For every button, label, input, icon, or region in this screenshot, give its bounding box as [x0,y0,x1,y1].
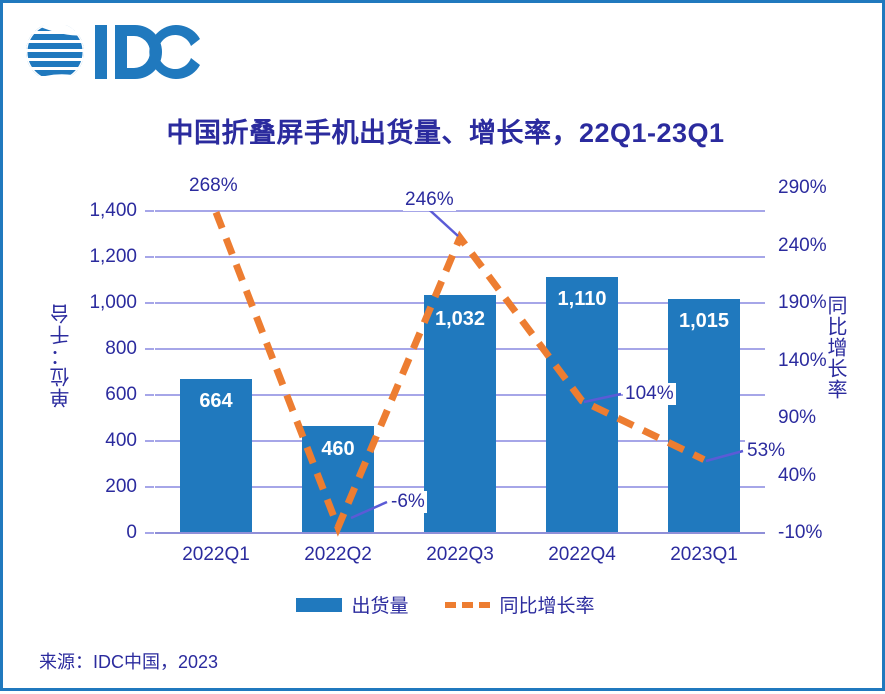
y-tick-left-1200: 1,200 [75,246,137,268]
x-tick-2022Q3: 2022Q3 [399,544,521,566]
leader-line-53 [706,451,743,461]
y-tick-left-1000: 1,000 [75,292,137,314]
tickmark-left-1400 [145,210,154,212]
legend-bar-swatch-icon [296,598,342,612]
growth-label-2023Q1: 53% [745,440,787,462]
y-axis-right-title: 同比增长率 [821,295,850,400]
legend-label-growth-rate: 同比增长率 [500,591,595,618]
growth-label-2022Q4: 104% [623,383,676,405]
y-tick-left-200: 200 [75,476,137,498]
chart-legend: 出货量 同比增长率 [3,591,885,618]
y-tick-right-240: 240% [778,235,848,257]
tickmark-left-1200 [145,256,154,258]
growth-label-2022Q3: 246% [403,189,456,211]
y-tick-right-40: 40% [778,465,848,487]
legend-dashed-line-swatch-icon [445,602,491,608]
leader-line-104 [584,394,621,402]
plot-area: 664 460 1,032 1,110 1,015 268% -6% 246% … [155,210,765,532]
y-tick-right-90: 90% [778,407,848,429]
y-tick-right-290: 290% [778,177,848,199]
tickmark-left-800 [145,348,154,350]
tickmark-left-400 [145,440,154,442]
chart-figure: 中国折叠屏手机出货量、增长率，22Q1-23Q1 1,400 1,200 1,0… [0,0,885,691]
x-tick-2022Q1: 2022Q1 [155,544,277,566]
legend-label-shipments: 出货量 [351,591,408,618]
tickmark-left-600 [145,394,154,396]
tickmark-left-1000 [145,302,154,304]
growth-rate-line [155,210,765,532]
y-tick-left-1400: 1,400 [75,200,137,222]
y-tick-left-800: 800 [75,338,137,360]
legend-item-growth-rate[interactable]: 同比增长率 [445,591,595,618]
x-tick-2022Q4: 2022Q4 [521,544,643,566]
x-tick-2022Q2: 2022Q2 [277,544,399,566]
tickmark-left-200 [145,486,154,488]
x-tick-2023Q1: 2023Q1 [643,544,765,566]
x-axis-line [155,532,765,534]
legend-item-shipments[interactable]: 出货量 [296,591,408,618]
growth-label-2022Q2: -6% [389,491,427,513]
y-tick-left-0: 0 [75,522,137,544]
y-tick-left-400: 400 [75,430,137,452]
y-tick-left-600: 600 [75,384,137,406]
source-note: 来源：IDC中国，2023 [39,648,218,674]
growth-label-2022Q1: 268% [187,175,240,197]
tickmark-left-0 [145,532,154,534]
y-axis-left-title: 单位：千台 [47,303,76,408]
y-tick-right-minus10: -10% [778,522,848,544]
leader-line-minus6 [351,502,387,518]
